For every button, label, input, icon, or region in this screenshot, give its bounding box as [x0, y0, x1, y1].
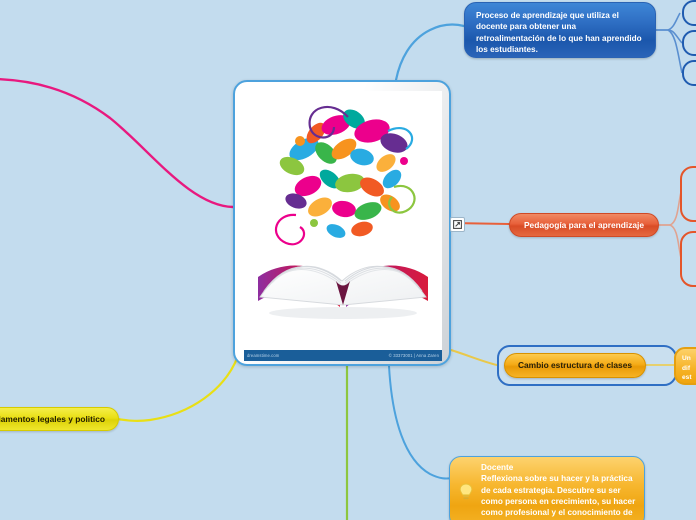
node-fundamentos-legales[interactable]: damentos legales y politico — [0, 407, 119, 431]
node-docente-reflexion[interactable]: Docente Reflexiona sobre su hacer y la p… — [449, 456, 645, 520]
node-label: Proceso de aprendizaje que utiliza el do… — [476, 10, 645, 55]
offscreen-child-node[interactable] — [682, 60, 696, 86]
branch-yellow — [117, 356, 238, 421]
branch-blue — [396, 25, 464, 80]
node-label: Cambio estructura de clases — [518, 360, 632, 371]
node-cambio-estructura-clases[interactable]: Cambio estructura de clases — [504, 353, 646, 378]
branch-pink — [0, 79, 233, 207]
stock-photo-watermark: dreamstime.com © 33373001 | Anna Zaren — [244, 350, 442, 361]
mindmap-canvas: dreamstime.com © 33373001 | Anna Zaren E… — [0, 0, 696, 520]
branch-to-orange-pill — [451, 350, 497, 365]
branch-bluenote-child-2 — [668, 30, 682, 43]
central-node-evaluacion[interactable]: dreamstime.com © 33373001 | Anna Zaren E… — [233, 80, 451, 366]
branch-bluenote-child-1 — [668, 13, 680, 30]
node-label: Un dif est — [682, 354, 696, 383]
offscreen-child-node[interactable] — [680, 166, 696, 222]
lightbulb-icon — [459, 483, 473, 501]
offscreen-child-node[interactable] — [682, 30, 696, 56]
offscreen-child-node[interactable] — [680, 231, 696, 287]
book-illustration — [244, 91, 442, 356]
watermark-source: dreamstime.com — [247, 351, 279, 360]
watermark-credit: © 33373001 | Anna Zaren — [389, 351, 439, 360]
collapse-expand-icon[interactable] — [450, 217, 465, 232]
node-offscreen-right-detail[interactable]: Un dif est — [674, 347, 696, 385]
offscreen-child-node[interactable] — [682, 0, 696, 26]
branch-bluenote-child-3 — [668, 30, 682, 73]
node-label: Docente Reflexiona sobre su hacer y la p… — [481, 462, 636, 520]
node-proceso-aprendizaje[interactable]: Proceso de aprendizaje que utiliza el do… — [464, 2, 656, 58]
branch-sky-bottom — [389, 366, 452, 479]
node-label: Pedagogía para el aprendizaje — [524, 220, 644, 231]
node-pedagogia-aprendizaje[interactable]: Pedagogía para el aprendizaje — [509, 213, 659, 237]
central-node-title: EVALUACIÓN — [252, 365, 438, 366]
node-label: damentos legales y politico — [0, 414, 105, 425]
